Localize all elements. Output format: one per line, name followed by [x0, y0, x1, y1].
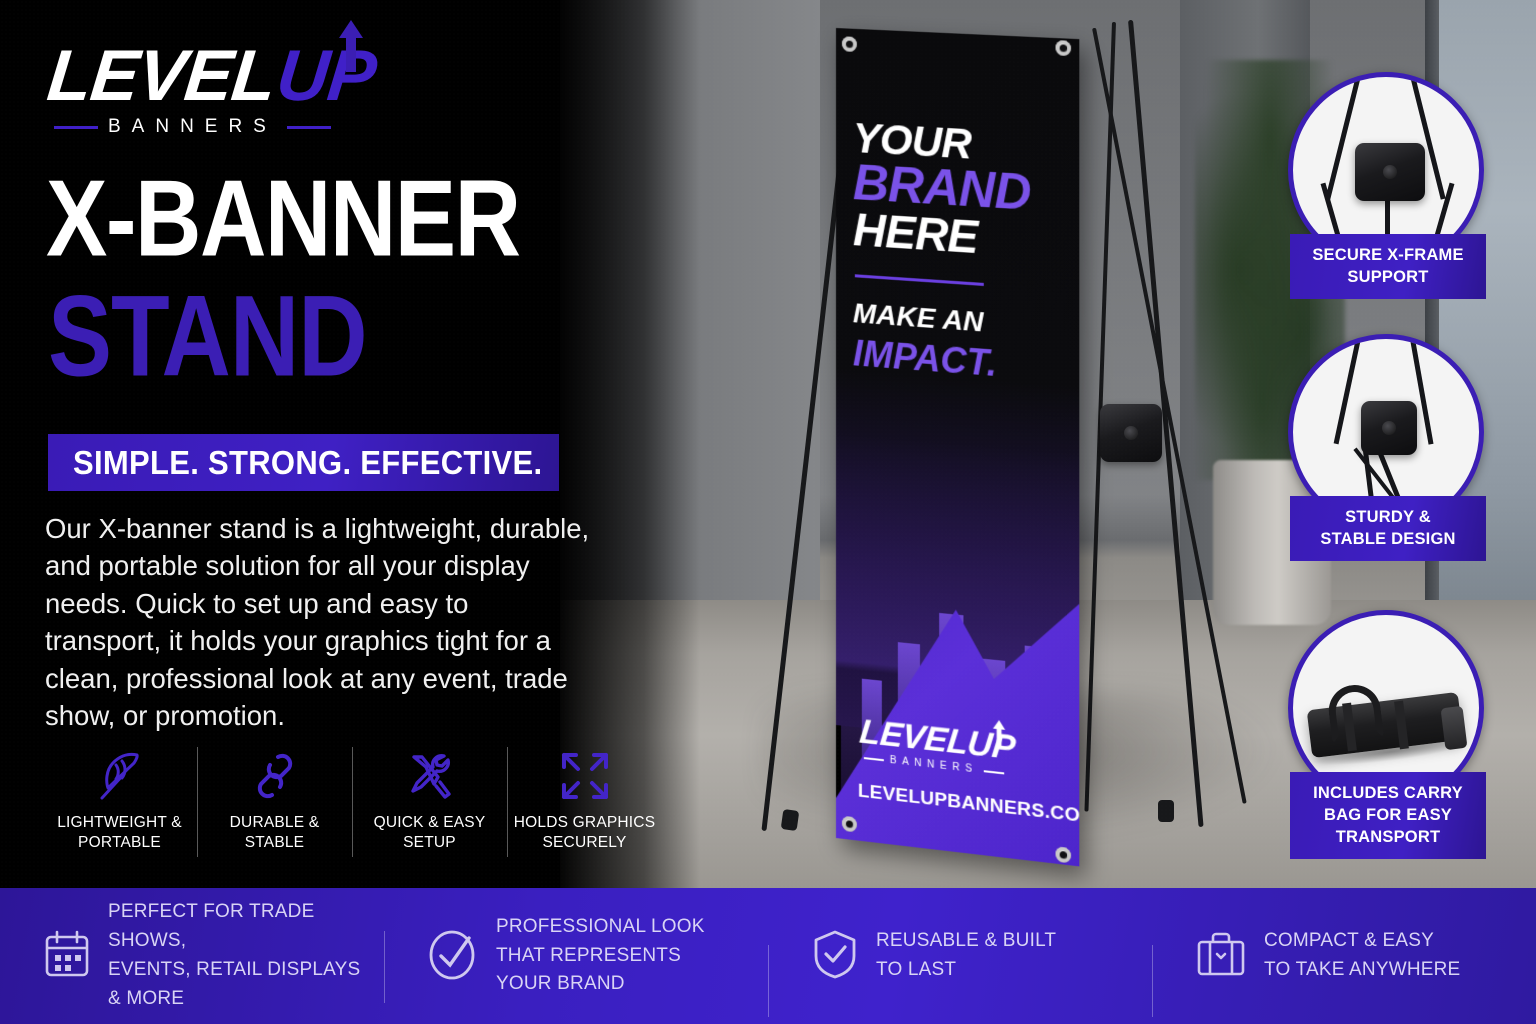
benefit-reusable: REUSABLE & BUILTTO LAST	[768, 927, 1152, 985]
benefit-label: PERFECT FOR TRADE SHOWS,EVENTS, RETAIL D…	[108, 898, 370, 1014]
x-banner-stand: YOUR BRAND HERE MAKE AN IMPACT. LEVEL UP	[760, 0, 1220, 880]
feather-icon	[96, 747, 144, 805]
stand-hub	[1361, 401, 1417, 455]
logo-dash-left	[864, 757, 884, 761]
callout-secure-x-frame: SECURE X-FRAMESUPPORT	[1288, 72, 1488, 299]
product-description: Our X-banner stand is a lightweight, dur…	[45, 510, 590, 734]
promo-graphic: YOUR BRAND HERE MAKE AN IMPACT. LEVEL UP	[0, 0, 1536, 1024]
banner-graphic: YOUR BRAND HERE MAKE AN IMPACT. LEVEL UP	[836, 28, 1079, 866]
benefit-label: PROFESSIONAL LOOKTHAT REPRESENTSYOUR BRA…	[496, 913, 705, 1000]
feature-label: LIGHTWEIGHT &PORTABLE	[57, 813, 182, 854]
feature-item-setup: QUICK & EASYSETUP	[352, 745, 507, 860]
tagline-text: SIMPLE. STRONG. EFFECTIVE.	[73, 443, 542, 482]
feature-item-lightweight: LIGHTWEIGHT &PORTABLE	[42, 745, 197, 860]
grommet-top-right	[1056, 40, 1071, 56]
logo-sub-text: BANNERS	[108, 116, 277, 138]
benefit-label: REUSABLE & BUILTTO LAST	[876, 927, 1056, 985]
brand-logo: LEVEL UP BANNERS	[48, 42, 468, 138]
page-title-line2: STAND	[48, 282, 367, 391]
calendar-icon	[44, 930, 90, 983]
logo-dash-right	[287, 126, 331, 129]
benefit-professional-look: PROFESSIONAL LOOKTHAT REPRESENTSYOUR BRA…	[384, 913, 768, 1000]
feature-list: LIGHTWEIGHT &PORTABLE DURABLE &STABLE	[42, 745, 662, 860]
callout-carry-bag: INCLUDES CARRYBAG FOR EASYTRANSPORT	[1288, 610, 1488, 859]
frame-foot-right	[1158, 800, 1174, 822]
briefcase-icon	[1196, 930, 1246, 983]
banner-surface: YOUR BRAND HERE MAKE AN IMPACT. LEVEL UP	[836, 28, 1079, 866]
tagline-band: SIMPLE. STRONG. EFFECTIVE.	[48, 434, 559, 491]
up-arrow-icon	[992, 719, 1006, 747]
feature-item-holds-graphics: HOLDS GRAPHICSSECURELY	[507, 745, 662, 860]
frame-foot-left	[781, 809, 800, 831]
callout-label: SECURE X-FRAMESUPPORT	[1290, 234, 1486, 299]
x-frame-hub	[1355, 143, 1425, 201]
callout-label: STURDY &STABLE DESIGN	[1290, 496, 1486, 561]
feature-label: HOLDS GRAPHICSSECURELY	[514, 813, 655, 854]
benefit-trade-shows: PERFECT FOR TRADE SHOWS,EVENTS, RETAIL D…	[0, 898, 384, 1014]
benefits-bar: PERFECT FOR TRADE SHOWS,EVENTS, RETAIL D…	[0, 888, 1536, 1024]
frame-center-hub	[1100, 404, 1162, 462]
tools-icon	[404, 747, 456, 805]
callout-label: INCLUDES CARRYBAG FOR EASYTRANSPORT	[1290, 772, 1486, 859]
bag-end-cap	[1441, 706, 1468, 750]
feature-label: QUICK & EASYSETUP	[374, 813, 486, 854]
expand-arrows-icon	[560, 747, 610, 805]
feature-label: DURABLE &STABLE	[230, 813, 320, 854]
shield-check-icon	[812, 929, 858, 984]
feature-item-durable: DURABLE &STABLE	[197, 745, 352, 860]
grommet-top-left	[842, 36, 857, 52]
up-arrow-icon	[338, 20, 364, 72]
banner-headline: YOUR BRAND HERE MAKE AN IMPACT.	[853, 117, 1066, 391]
page-title-line1: X-BANNER	[46, 168, 520, 271]
chain-link-icon	[252, 747, 298, 805]
banner-divider-rule	[855, 275, 984, 287]
bag-handle	[1326, 682, 1384, 744]
logo-level-text: LEVEL	[44, 42, 278, 110]
callout-sturdy-stable: STURDY &STABLE DESIGN	[1288, 334, 1488, 561]
check-circle-icon	[428, 928, 478, 985]
benefit-compact: COMPACT & EASYTO TAKE ANYWHERE	[1152, 927, 1536, 985]
logo-dash-left	[54, 126, 98, 129]
logo-dash-right	[984, 770, 1004, 774]
benefit-label: COMPACT & EASYTO TAKE ANYWHERE	[1264, 927, 1460, 985]
